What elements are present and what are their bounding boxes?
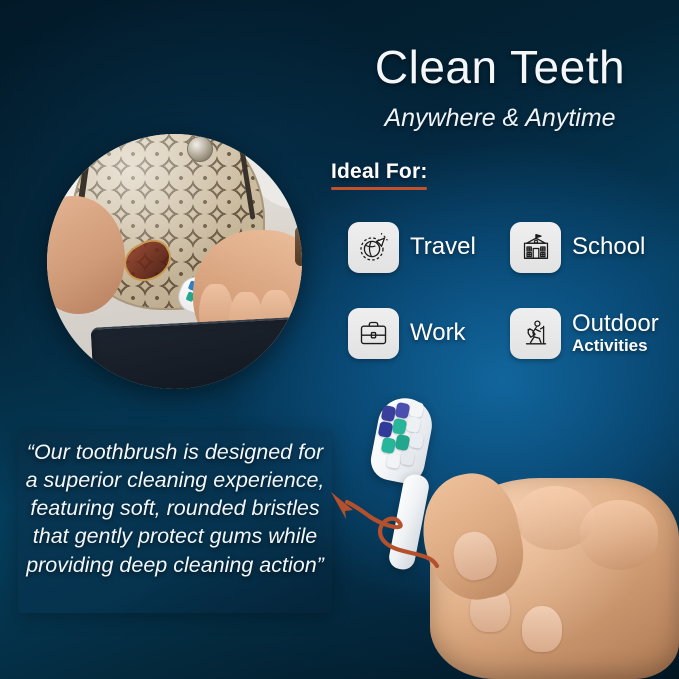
product-infographic: Clean Teeth Anywhere & Anytime Ideal For… — [0, 0, 679, 679]
page-title: Clean Teeth — [340, 44, 660, 90]
travel-badge — [348, 222, 399, 273]
school-label-text: School — [572, 233, 645, 260]
use-case-work[interactable]: Work — [348, 290, 510, 376]
outdoor-label-text: Outdoor — [572, 310, 659, 337]
school-label: School — [572, 235, 645, 260]
purse-clasp — [187, 136, 213, 162]
use-case-outdoor[interactable]: Outdoor Activities — [510, 290, 679, 376]
lifestyle-photo-inset — [47, 134, 302, 389]
ideal-for-label: Ideal For: — [331, 160, 428, 184]
globe-airplane-icon — [357, 231, 390, 264]
hiker-icon — [519, 316, 553, 350]
quote-text: “Our toothbrush is designed for a superi… — [22, 438, 328, 579]
ideal-for-section: Ideal For: — [331, 160, 428, 190]
use-case-grid: Travel — [348, 204, 679, 376]
ideal-for-underline — [331, 187, 427, 190]
page-subtitle: Anywhere & Anytime — [340, 104, 660, 133]
work-label: Work — [410, 321, 466, 346]
annotation-arrow — [325, 478, 445, 574]
wallet — [91, 316, 302, 389]
outdoor-badge — [510, 308, 561, 359]
outdoor-label: Outdoor Activities — [572, 312, 659, 355]
photo-wristwatch — [295, 226, 302, 266]
school-badge — [510, 222, 561, 273]
schoolhouse-icon — [519, 230, 553, 264]
travel-label: Travel — [410, 235, 476, 260]
outdoor-sublabel-text: Activities — [572, 337, 659, 355]
work-badge — [348, 308, 399, 359]
travel-label-text: Travel — [410, 233, 476, 260]
use-case-travel[interactable]: Travel — [348, 204, 510, 290]
use-case-school[interactable]: School — [510, 204, 679, 290]
work-label-text: Work — [410, 319, 466, 346]
briefcase-icon — [357, 317, 390, 350]
